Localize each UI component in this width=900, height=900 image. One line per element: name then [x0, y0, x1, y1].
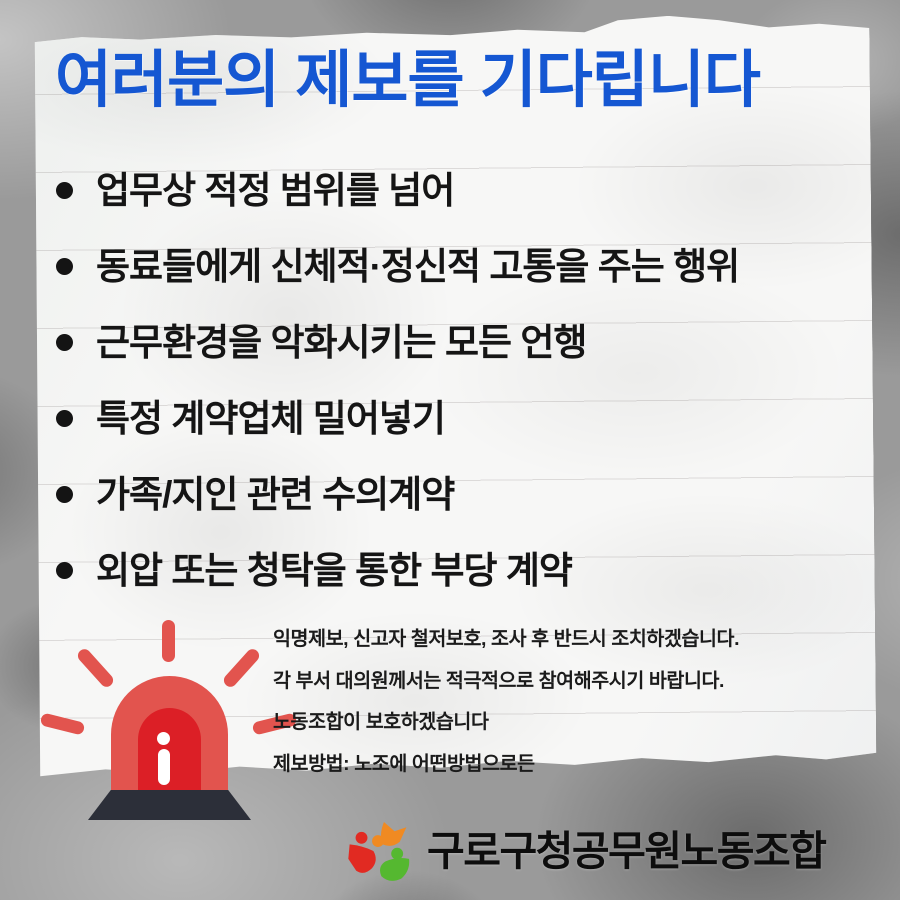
bullet-dot-icon — [56, 486, 73, 503]
list-item-label: 근무환경을 악화시키는 모든 언행 — [96, 324, 586, 361]
info-glyph-dot — [157, 732, 170, 745]
logo-figure-orange — [372, 822, 406, 847]
bullet-dot-icon — [56, 334, 73, 351]
page-title: 여러분의 제보를 기다립니다 — [55, 48, 835, 113]
logo-figure-red — [348, 832, 375, 873]
siren-ray-upper-left — [75, 647, 115, 690]
notice-line: 제보방법: 노조에 어떤방법으로든 — [273, 755, 833, 775]
bullet-dot-icon — [56, 182, 73, 199]
bullet-dot-icon — [56, 258, 73, 275]
list-item: 외압 또는 청탁을 통한 부당 계약 — [56, 532, 856, 608]
three-people-circle-logo — [347, 818, 413, 884]
list-item-label: 가족/지인 관련 수의계약 — [96, 476, 454, 513]
notice-line: 각 부서 대의원께서는 적극적으로 참여해주시기 바랍니다. — [273, 672, 833, 692]
notice-line: 노동조합이 보호하겠습니다 — [273, 713, 833, 733]
siren-ray-top — [162, 620, 175, 662]
list-item-label: 외압 또는 청탁을 통한 부당 계약 — [96, 552, 572, 589]
poster-canvas: 여러분의 제보를 기다립니다 업무상 적정 범위를 넘어 동료들에게 신체적·정… — [0, 0, 900, 900]
info-glyph-stem — [158, 749, 170, 785]
violation-list: 업무상 적정 범위를 넘어 동료들에게 신체적·정신적 고통을 주는 행위 근무… — [56, 152, 856, 608]
siren-ray-upper-right — [221, 647, 261, 690]
bullet-dot-icon — [56, 410, 73, 427]
logo-figure-green — [380, 848, 409, 881]
footer: 구로구청공무원노동조합 — [347, 818, 825, 884]
notice-line: 익명제보, 신고자 철저보호, 조사 후 반드시 조치하겠습니다. — [273, 630, 833, 650]
list-item: 특정 계약업체 밀어넣기 — [56, 380, 856, 456]
siren-alert-icon — [58, 612, 273, 827]
list-item-label: 동료들에게 신체적·정신적 고통을 주는 행위 — [96, 248, 739, 285]
list-item-label: 특정 계약업체 밀어넣기 — [96, 400, 445, 437]
list-item-label: 업무상 적정 범위를 넘어 — [96, 172, 454, 209]
list-item: 업무상 적정 범위를 넘어 — [56, 152, 856, 228]
organization-name: 구로구청공무원노동조합 — [427, 831, 825, 872]
list-item: 가족/지인 관련 수의계약 — [56, 456, 856, 532]
list-item: 근무환경을 악화시키는 모든 언행 — [56, 304, 856, 380]
bullet-dot-icon — [56, 562, 73, 579]
siren-base — [88, 790, 251, 820]
notice-text-block: 익명제보, 신고자 철저보호, 조사 후 반드시 조치하겠습니다. 각 부서 대… — [273, 630, 833, 796]
list-item: 동료들에게 신체적·정신적 고통을 주는 행위 — [56, 228, 856, 304]
